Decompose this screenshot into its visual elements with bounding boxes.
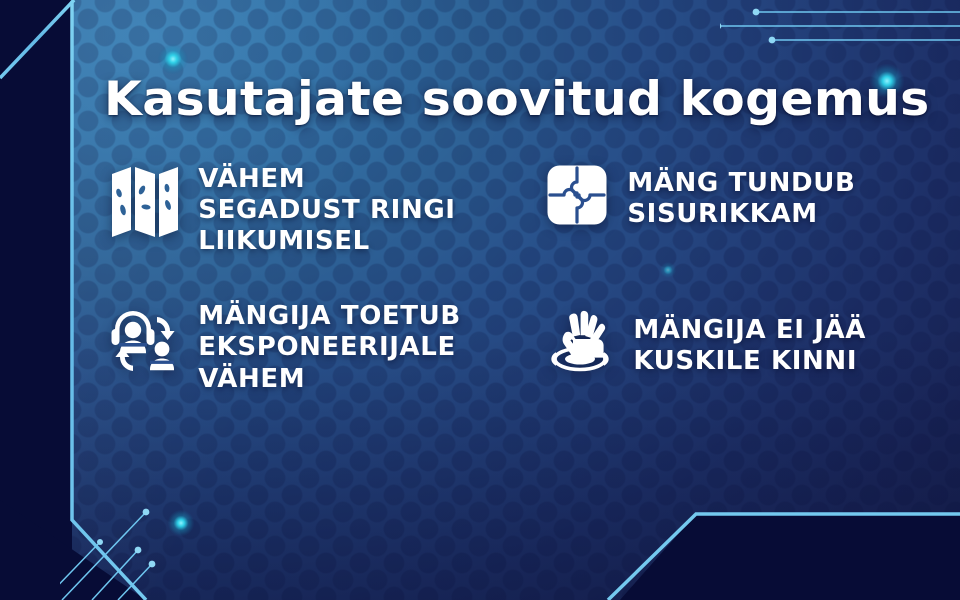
feature-line: MÄNGIJA TOETUB (198, 301, 461, 332)
support-headset-handoff-icon (106, 295, 184, 379)
feature-grid: VÄHEM SEGADUST RINGI LIIKUMISEL (100, 158, 910, 395)
slide-canvas: Kasutajate soovitud kogemus (0, 0, 960, 600)
feature-item-2-label: MÄNG TUNDUB SISURIKKAM (611, 158, 855, 230)
feature-line: LIIKUMISEL (198, 226, 455, 257)
folded-map-icon (106, 158, 184, 242)
feature-item-1: VÄHEM SEGADUST RINGI LIIKUMISEL (100, 158, 511, 257)
feature-item-3-label: MÄNGIJA TOETUB EKSPONEERIJALE VÄHEM (184, 295, 461, 394)
feature-line: SEGADUST RINGI (198, 195, 455, 226)
puzzle-pieces-icon (543, 158, 611, 232)
feature-line: VÄHEM (198, 364, 461, 395)
slide-content: Kasutajate soovitud kogemus (0, 0, 960, 600)
feature-line: VÄHEM (198, 164, 455, 195)
feature-row-1: VÄHEM SEGADUST RINGI LIIKUMISEL (100, 158, 910, 257)
feature-row-2: MÄNGIJA TOETUB EKSPONEERIJALE VÄHEM (100, 273, 910, 394)
feature-item-2: MÄNG TUNDUB SISURIKKAM (511, 158, 910, 257)
page-title: Kasutajate soovitud kogemus (104, 72, 930, 127)
feature-item-4-label: MÄNGIJA EI JÄÄ KUSKILE KINNI (617, 305, 866, 377)
feature-line: MÄNGIJA EI JÄÄ (633, 315, 866, 346)
feature-line: SISURIKKAM (627, 199, 855, 230)
feature-item-3: MÄNGIJA TOETUB EKSPONEERIJALE VÄHEM (100, 273, 511, 394)
feature-line: KUSKILE KINNI (633, 346, 866, 377)
hand-reaching-out-of-hole-icon (543, 305, 617, 379)
feature-line: MÄNG TUNDUB (627, 168, 855, 199)
feature-line: EKSPONEERIJALE (198, 332, 461, 363)
feature-item-4: MÄNGIJA EI JÄÄ KUSKILE KINNI (511, 273, 910, 394)
feature-item-1-label: VÄHEM SEGADUST RINGI LIIKUMISEL (184, 158, 456, 257)
